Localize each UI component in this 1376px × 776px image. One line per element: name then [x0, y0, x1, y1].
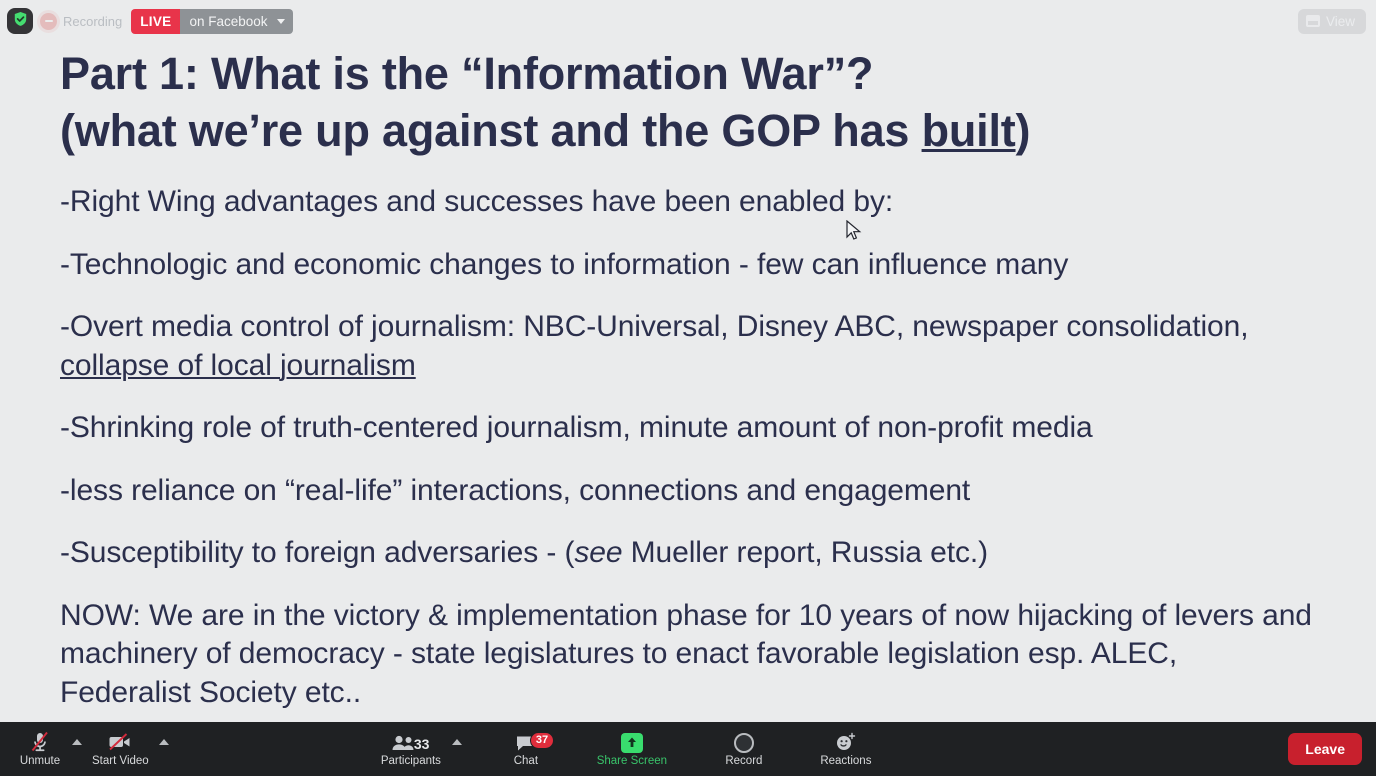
slide-content: Part 1: What is the “Information War”? (… [0, 0, 1376, 712]
slide-bullet-6: -Susceptibility to foreign adversaries -… [60, 534, 1316, 573]
slide-bullet-1: -Right Wing advantages and successes hav… [60, 183, 1316, 222]
shared-screen-slide[interactable]: Part 1: What is the “Information War”? (… [0, 0, 1376, 722]
participants-count: 33 [414, 736, 430, 752]
toolbar-center-group: Participants 33 Chat 37 [374, 722, 886, 776]
slide-bullet-4: -Shrinking role of truth-centered journa… [60, 409, 1316, 448]
slide-title-underlined-word: built [922, 105, 1016, 156]
video-camera-off-icon [107, 731, 133, 753]
audio-options-chevron[interactable] [68, 739, 86, 759]
recording-label: Recording [63, 14, 122, 29]
slide-title-line-2: (what we’re up against and the GOP has b… [60, 102, 1376, 159]
smiley-plus-icon [834, 731, 858, 753]
unmute-label: Unmute [20, 755, 60, 768]
reactions-button[interactable]: Reactions [806, 731, 886, 768]
microphone-muted-icon [29, 731, 51, 753]
toolbar-right-group: Leave [1288, 722, 1376, 776]
slide-bullet-6-post: Mueller report, Russia etc.) [622, 536, 988, 569]
chevron-up-icon [159, 739, 169, 745]
layout-grid-icon [1306, 15, 1320, 27]
slide-bullet-6-italic: see [574, 536, 622, 569]
live-destination-label: on Facebook [189, 14, 267, 29]
share-screen-label: Share Screen [597, 755, 667, 768]
live-badge-label: LIVE [131, 9, 180, 34]
chat-label: Chat [514, 755, 538, 768]
slide-closing-paragraph: NOW: We are in the victory & implementat… [60, 597, 1316, 713]
slide-bullet-2: -Technologic and economic changes to inf… [60, 246, 1316, 285]
chevron-up-icon [452, 739, 462, 745]
slide-title-line-2-pre: (what we’re up against and the GOP has [60, 105, 922, 156]
slide-title-line-1: Part 1: What is the “Information War”? [60, 45, 1376, 102]
participants-button[interactable]: Participants 33 [374, 731, 448, 768]
slide-title-line-2-post: ) [1016, 105, 1031, 156]
toolbar-left-group: Unmute Start Video [0, 722, 173, 776]
chevron-up-icon [72, 739, 82, 745]
live-stream-indicator[interactable]: LIVE on Facebook [131, 9, 292, 34]
start-video-label: Start Video [92, 755, 149, 768]
shield-check-icon [13, 11, 28, 32]
chat-unread-badge: 37 [530, 732, 554, 749]
meeting-toolbar: Unmute Start Video [0, 722, 1376, 776]
unmute-button[interactable]: Unmute [12, 731, 68, 768]
slide-bullet-list: -Right Wing advantages and successes hav… [0, 183, 1376, 712]
encryption-shield-button[interactable] [7, 8, 33, 34]
slide-bullet-3-underlined: collapse of local journalism [60, 349, 416, 382]
video-options-chevron[interactable] [155, 739, 173, 759]
slide-bullet-3-pre: -Overt media control of journalism: NBC-… [60, 310, 1248, 343]
zoom-meeting-window: Part 1: What is the “Information War”? (… [0, 0, 1376, 776]
record-button[interactable]: Record [708, 731, 780, 768]
record-label: Record [725, 755, 762, 768]
leave-button[interactable]: Leave [1288, 733, 1362, 765]
start-video-button[interactable]: Start Video [86, 731, 155, 768]
participants-label: Participants [381, 755, 441, 768]
slide-bullet-6-pre: -Susceptibility to foreign adversaries -… [60, 536, 574, 569]
slide-bullet-3: -Overt media control of journalism: NBC-… [60, 308, 1316, 385]
participants-options-chevron[interactable] [448, 739, 466, 759]
view-button[interactable]: View [1298, 9, 1366, 34]
chevron-down-icon[interactable] [277, 19, 285, 24]
view-button-label: View [1326, 14, 1355, 29]
record-dot-icon [40, 13, 57, 30]
live-destination[interactable]: on Facebook [180, 9, 292, 34]
recording-indicator[interactable]: Recording [40, 13, 122, 30]
share-screen-up-arrow-icon [621, 731, 643, 753]
reactions-label: Reactions [820, 755, 871, 768]
record-circle-icon [734, 731, 754, 753]
slide-bullet-5: -less reliance on “real-life” interactio… [60, 472, 1316, 511]
share-screen-button[interactable]: Share Screen [584, 731, 680, 768]
top-bar-right-group: View [1298, 9, 1376, 34]
chat-button[interactable]: Chat 37 [496, 731, 556, 768]
